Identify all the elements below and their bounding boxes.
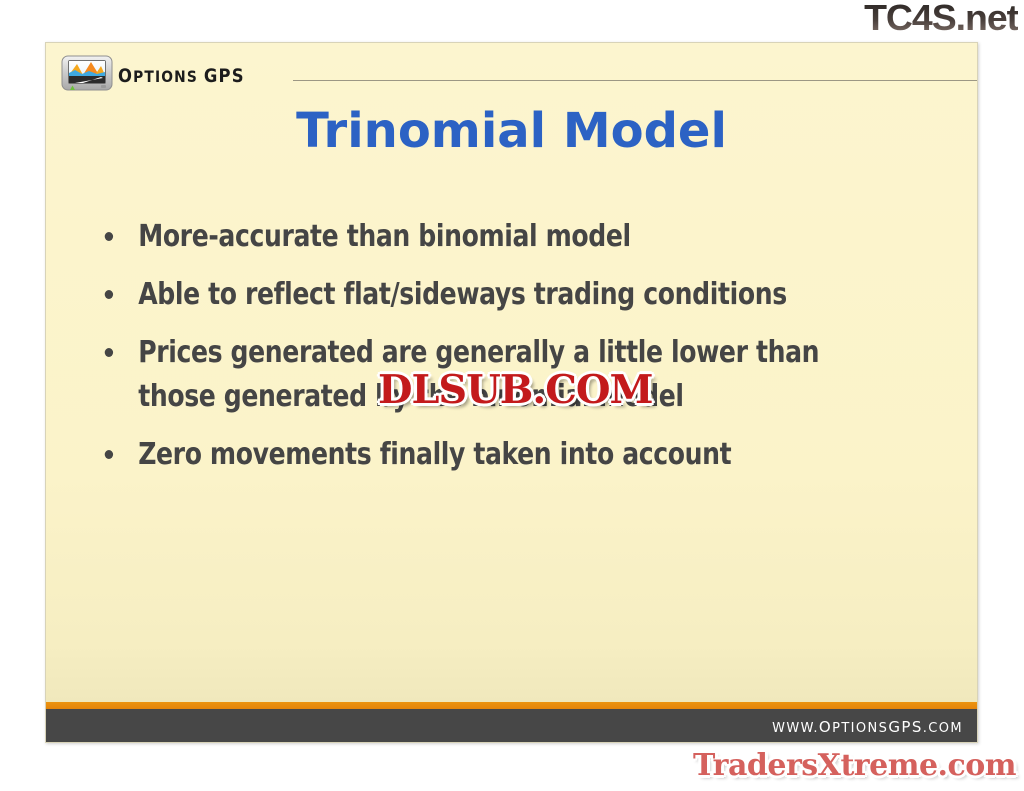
slide-header: OPTIONS GPS bbox=[46, 43, 977, 93]
bullet-list: More-accurate than binomial model Able t… bbox=[101, 215, 961, 491]
bullet-dot-icon bbox=[105, 290, 113, 299]
brandmark-options-gps: OPTIONS GPS bbox=[118, 65, 245, 87]
bullet-dot-icon bbox=[105, 450, 113, 459]
accent-stripe bbox=[46, 702, 977, 709]
slide-title: Trinomial Model bbox=[46, 103, 977, 159]
watermark-tradersxtreme: TradersXtreme.com bbox=[693, 748, 1016, 783]
footer-website-url: WWW.OPTIONSGPS.COM bbox=[772, 718, 963, 736]
bullet-text: Able to reflect flat/sideways trading co… bbox=[138, 277, 787, 312]
site-brand-tc4s: TC4S.net bbox=[864, 0, 1018, 38]
header-divider bbox=[293, 80, 977, 81]
bullet-item: Zero movements finally taken into accoun… bbox=[101, 433, 901, 477]
watermark-dlsub: DLSUB.COM bbox=[378, 367, 653, 413]
bullet-dot-icon bbox=[105, 348, 113, 357]
bullet-text: Zero movements finally taken into accoun… bbox=[138, 437, 731, 472]
slide-footer: WWW.OPTIONSGPS.COM bbox=[46, 709, 977, 742]
bullet-item: Able to reflect flat/sideways trading co… bbox=[101, 273, 901, 317]
bullet-text: More-accurate than binomial model bbox=[138, 219, 631, 254]
bullet-dot-icon bbox=[105, 232, 113, 241]
bullet-item: More-accurate than binomial model bbox=[101, 215, 901, 259]
gps-device-icon bbox=[61, 54, 113, 92]
